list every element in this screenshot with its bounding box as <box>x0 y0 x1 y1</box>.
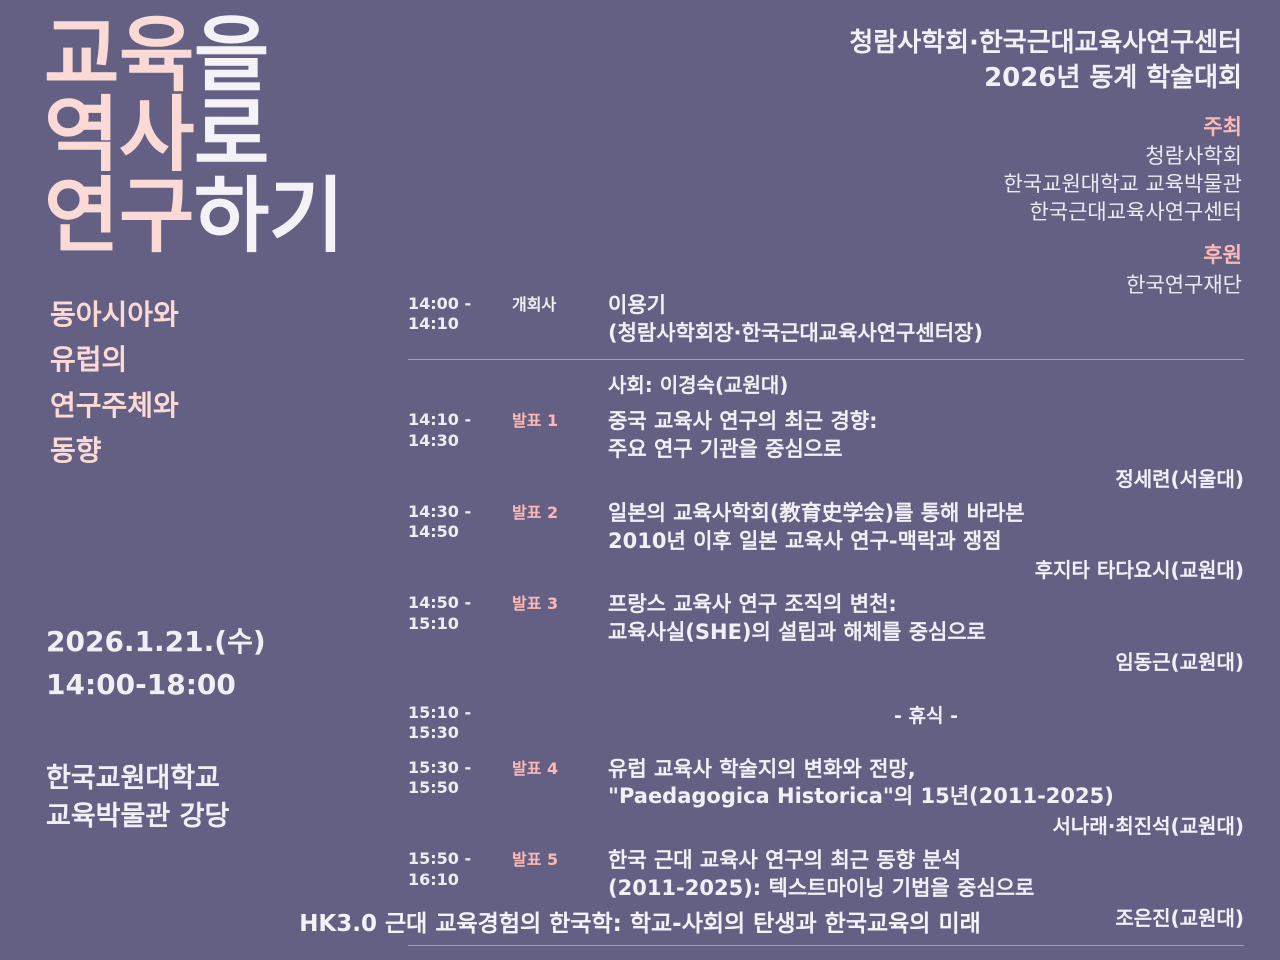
session-4-kind: 발표 4 <box>512 756 608 779</box>
chair1-time-spacer <box>408 372 512 374</box>
session-5-time: 15:50 - 16:10 <box>408 847 512 890</box>
break-2-time: 16:10 - 16:25 <box>408 956 512 960</box>
session-2-presenter: 후지타 타다요시(교원대) <box>608 555 1244 585</box>
event-time: 14:00-18:00 <box>46 663 386 706</box>
conference-poster: 교육을 역사로 연구하기 동아시아와 유럽의 연구주체와 동향 2026.1.2… <box>0 0 1280 960</box>
schedule-row-break-1: 15:10 - 15:30 - 휴식 - <box>408 691 1244 756</box>
session-4-title-line-2: "Paedagogica Historica"의 15년(2011-2025) <box>608 783 1244 811</box>
header-title-line-1: 청람사학회·한국근대교육사연구센터 <box>522 26 1242 61</box>
title-line-3-pink: 연구 <box>44 169 194 264</box>
event-date-block: 2026.1.21.(수) 14:00-18:00 <box>46 620 386 707</box>
session-1-time: 14:10 - 14:30 <box>408 408 512 451</box>
chair1-kind-spacer <box>512 372 608 375</box>
host-label: 주최 <box>522 112 1242 144</box>
host-item-2: 한국교원대학교 교육박물관 <box>522 171 1242 199</box>
session-4-time: 15:30 - 15:50 <box>408 756 512 799</box>
session-1-time-start: 14:10 - <box>408 410 512 430</box>
sponsor-label: 후원 <box>522 240 1242 272</box>
session-2-title-line-2: 2010년 이후 일본 교육사 연구-맥락과 쟁점 <box>608 528 1244 556</box>
break-1-label: - 휴식 - <box>608 701 1244 729</box>
opening-time-start: 14:00 - <box>408 294 512 314</box>
session-5-time-start: 15:50 - <box>408 849 512 869</box>
session-2-time-start: 14:30 - <box>408 502 512 522</box>
subtitle-line-3: 연구주체와 <box>50 383 380 428</box>
session-1-body: 중국 교육사 연구의 최근 경향: 주요 연구 기관을 중심으로 정세련(서울대… <box>608 408 1244 493</box>
session-2-time-end: 14:50 <box>408 522 512 542</box>
session-3-body: 프랑스 교육사 연구 조직의 변천: 교육사실(SHE)의 설립과 해체를 중심… <box>608 591 1244 676</box>
poster-subtitle: 동아시아와 유럽의 연구주체와 동향 <box>50 292 380 473</box>
session-2-title-line-1: 일본의 교육사학회(教育史学会)를 통해 바라본 <box>608 500 1244 528</box>
break-2-body: - 휴식 - <box>608 956 1244 960</box>
session-4-body: 유럽 교육사 학술지의 변화와 전망, "Paedagogica Histori… <box>608 756 1244 841</box>
venue-line-2: 교육박물관 강당 <box>46 798 406 836</box>
session-2-kind: 발표 2 <box>512 500 608 523</box>
break-1-time-end: 15:30 <box>408 723 512 743</box>
schedule-table: 14:00 - 14:10 개회사 이용기 (청람사학회장·한국근대교육사연구센… <box>408 292 1244 960</box>
session-5-title-line-1: 한국 근대 교육사 연구의 최근 동향 분석 <box>608 847 1244 875</box>
break-2-label: - 휴식 - <box>608 956 1244 960</box>
break-1-body: - 휴식 - <box>608 701 1244 729</box>
session-3-time-start: 14:50 - <box>408 593 512 613</box>
divider-2 <box>408 945 1244 946</box>
session-1-title-line-2: 주요 연구 기관을 중심으로 <box>608 436 1244 464</box>
title-line-1: 교육을 <box>44 18 564 94</box>
session-4-time-end: 15:50 <box>408 778 512 798</box>
session-3-title-line-2: 교육사실(SHE)의 설립과 해체를 중심으로 <box>608 619 1244 647</box>
host-item-1: 청람사학회 <box>522 143 1242 171</box>
title-line-3-white: 하기 <box>194 169 344 264</box>
poster-title: 교육을 역사로 연구하기 <box>44 18 564 259</box>
break-2-kind-spacer <box>512 956 608 959</box>
break-1-time: 15:10 - 15:30 <box>408 701 512 744</box>
opening-speaker-name: 이용기 <box>608 292 1244 320</box>
session-2-body: 일본의 교육사학회(教育史学会)를 통해 바라본 2010년 이후 일본 교육사… <box>608 500 1244 585</box>
schedule-row-break-2: 16:10 - 16:25 - 휴식 - <box>408 946 1244 960</box>
title-line-2: 역사로 <box>44 98 564 174</box>
session-1-kind: 발표 1 <box>512 408 608 431</box>
event-venue-block: 한국교원대학교 교육박물관 강당 <box>46 760 406 837</box>
session-3-kind: 발표 3 <box>512 591 608 614</box>
opening-time: 14:00 - 14:10 <box>408 292 512 335</box>
schedule-row-session-1: 14:10 - 14:30 발표 1 중국 교육사 연구의 최근 경향: 주요 … <box>408 408 1244 499</box>
host-group: 주최 청람사학회 한국교원대학교 교육박물관 한국근대교육사연구센터 <box>522 112 1242 227</box>
session-4-presenter: 서나래·최진석(교원대) <box>608 811 1244 841</box>
venue-line-1: 한국교원대학교 <box>46 760 406 798</box>
schedule-row-session-3: 14:50 - 15:10 발표 3 프랑스 교육사 연구 조직의 변천: 교육… <box>408 591 1244 682</box>
session-3-time: 14:50 - 15:10 <box>408 591 512 634</box>
subtitle-line-2: 유럽의 <box>50 337 380 382</box>
break-1-kind-spacer <box>512 701 608 704</box>
session-4-title-line-1: 유럽 교육사 학술지의 변화와 전망, <box>608 756 1244 784</box>
title-line-3: 연구하기 <box>44 179 564 255</box>
header-title-line-2: 2026년 동계 학술대회 <box>522 61 1242 96</box>
chair1-body: 사회: 이경숙(교원대) <box>608 372 1244 398</box>
footer-text: HK3.0 근대 교육경험의 한국학: 학교-사회의 탄생과 한국교육의 미래 <box>0 904 1280 938</box>
session-3-presenter: 임동근(교원대) <box>608 647 1244 677</box>
sponsor-group: 후원 한국연구재단 <box>522 240 1242 299</box>
chair-1-label: 사회: 이경숙(교원대) <box>608 372 1244 398</box>
session-4-time-start: 15:30 - <box>408 758 512 778</box>
session-5-title-line-2: (2011-2025): 텍스트마이닝 기법을 중심으로 <box>608 875 1244 903</box>
session-5-time-end: 16:10 <box>408 870 512 890</box>
session-2-time: 14:30 - 14:50 <box>408 500 512 543</box>
subtitle-line-1: 동아시아와 <box>50 292 380 337</box>
opening-speaker-affiliation: (청람사학회장·한국근대교육사연구센터장) <box>608 320 1244 348</box>
schedule-row-opening: 14:00 - 14:10 개회사 이용기 (청람사학회장·한국근대교육사연구센… <box>408 292 1244 359</box>
opening-time-end: 14:10 <box>408 314 512 334</box>
event-date: 2026.1.21.(수) <box>46 620 386 663</box>
header-block: 청람사학회·한국근대교육사연구센터 2026년 동계 학술대회 주최 청람사학회… <box>522 26 1242 300</box>
opening-body: 이용기 (청람사학회장·한국근대교육사연구센터장) <box>608 292 1244 347</box>
session-1-time-end: 14:30 <box>408 431 512 451</box>
host-item-3: 한국근대교육사연구센터 <box>522 199 1242 227</box>
schedule-row-session-4: 15:30 - 15:50 발표 4 유럽 교육사 학술지의 변화와 전망, "… <box>408 756 1244 847</box>
schedule-row-session-2: 14:30 - 14:50 발표 2 일본의 교육사학회(教育史学会)를 통해 … <box>408 500 1244 591</box>
session-3-time-end: 15:10 <box>408 614 512 634</box>
divider-1 <box>408 359 1244 360</box>
session-1-presenter: 정세련(서울대) <box>608 464 1244 494</box>
session-3-title-line-1: 프랑스 교육사 연구 조직의 변천: <box>608 591 1244 619</box>
session-1-title-line-1: 중국 교육사 연구의 최근 경향: <box>608 408 1244 436</box>
subtitle-line-4: 동향 <box>50 428 380 473</box>
session-5-kind: 발표 5 <box>512 847 608 870</box>
schedule-row-chair-1: 사회: 이경숙(교원대) <box>408 360 1244 408</box>
opening-kind: 개회사 <box>512 292 608 315</box>
break-1-time-start: 15:10 - <box>408 703 512 723</box>
